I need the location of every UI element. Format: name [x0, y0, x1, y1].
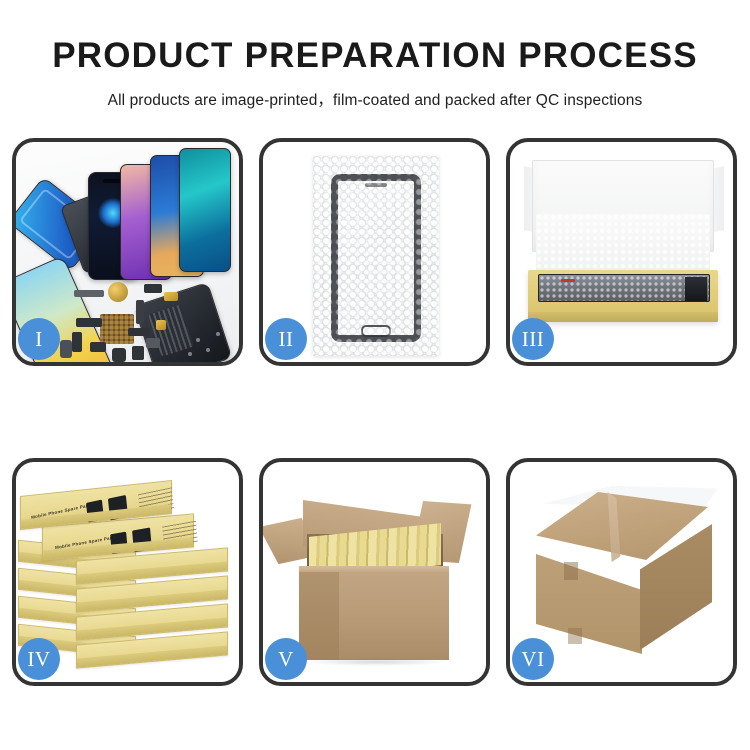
step-badge-3: III [512, 318, 554, 360]
step-badge-5: V [265, 638, 307, 680]
step-badge-1: I [18, 318, 60, 360]
process-step-4: Mobile Phone Spare Parts Mobile Phone Sp… [12, 458, 243, 686]
process-step-2: II [259, 138, 490, 366]
step-badge-6: VI [512, 638, 554, 680]
product-preparation-infographic: PRODUCT PREPARATION PROCESS All products… [0, 0, 750, 750]
step-badge-2: II [265, 318, 307, 360]
header: PRODUCT PREPARATION PROCESS All products… [0, 0, 750, 110]
process-step-5: V [259, 458, 490, 686]
process-step-1: I [12, 138, 243, 366]
process-step-6: VI [506, 458, 737, 686]
page-subtitle: All products are image-printed，film-coat… [0, 88, 750, 110]
process-step-grid: I II III [12, 138, 738, 686]
process-step-3: III [506, 138, 737, 366]
step-badge-4: IV [18, 638, 60, 680]
page-title: PRODUCT PREPARATION PROCESS [0, 38, 750, 73]
